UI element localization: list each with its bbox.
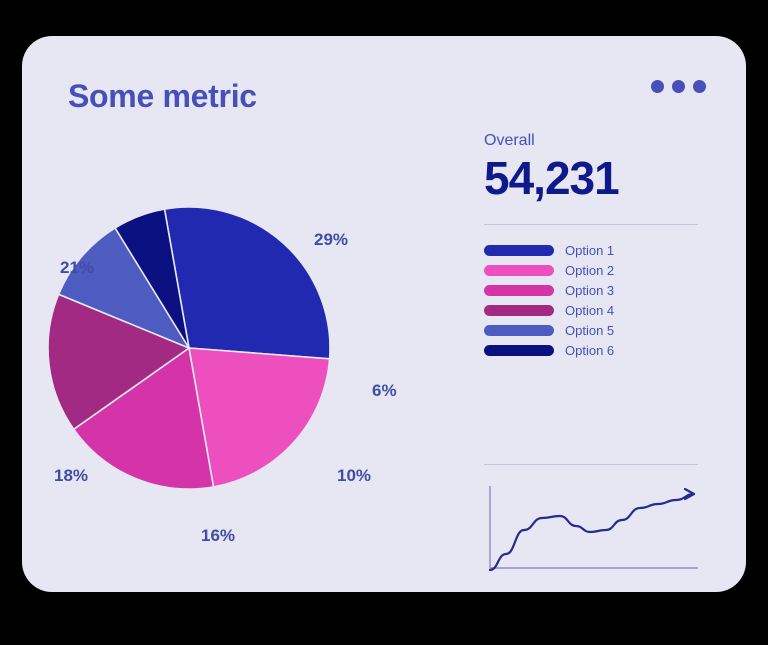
menu-dot	[672, 80, 685, 93]
sparkline-divider	[484, 464, 698, 465]
legend-label: Option 4	[565, 303, 614, 318]
chart-legend: Option 1Option 2Option 3Option 4Option 5…	[484, 243, 712, 358]
metric-card: Some metric 29% 21% 18% 16% 10% 6% Overa…	[22, 36, 746, 592]
legend-swatch-icon	[484, 285, 554, 296]
pie-label-option-5: 10%	[337, 466, 371, 486]
pie-label-option-6: 6%	[372, 381, 397, 401]
legend-swatch-icon	[484, 345, 554, 356]
pie-chart-svg	[42, 166, 462, 566]
panel-divider	[484, 224, 698, 225]
pie-label-option-3: 18%	[54, 466, 88, 486]
more-horizontal-icon[interactable]	[651, 80, 706, 93]
menu-dot	[651, 80, 664, 93]
legend-swatch-icon	[484, 305, 554, 316]
screenshot-stage: Some metric 29% 21% 18% 16% 10% 6% Overa…	[0, 0, 768, 645]
trend-sparkline	[484, 482, 706, 574]
menu-dot	[693, 80, 706, 93]
legend-label: Option 1	[565, 243, 614, 258]
pie-slice-option-1[interactable]	[165, 207, 330, 359]
legend-label: Option 2	[565, 263, 614, 278]
sparkline-axes	[490, 486, 698, 568]
page-title: Some metric	[68, 78, 257, 115]
legend-label: Option 6	[565, 343, 614, 358]
legend-label: Option 3	[565, 283, 614, 298]
pie-label-option-1: 29%	[314, 230, 348, 250]
pie-label-option-4: 16%	[201, 526, 235, 546]
legend-label: Option 5	[565, 323, 614, 338]
legend-swatch-icon	[484, 245, 554, 256]
summary-panel: Overall 54,231 Option 1Option 2Option 3O…	[484, 132, 712, 358]
legend-item-1[interactable]: Option 1	[484, 243, 712, 258]
sparkline-path	[490, 494, 694, 570]
overall-value: 54,231	[484, 154, 712, 202]
legend-item-5[interactable]: Option 5	[484, 323, 712, 338]
legend-item-2[interactable]: Option 2	[484, 263, 712, 278]
pie-label-option-2: 21%	[60, 258, 94, 278]
legend-swatch-icon	[484, 325, 554, 336]
legend-item-4[interactable]: Option 4	[484, 303, 712, 318]
overall-label: Overall	[484, 132, 712, 150]
legend-item-3[interactable]: Option 3	[484, 283, 712, 298]
pie-chart: 29% 21% 18% 16% 10% 6%	[42, 166, 462, 566]
legend-item-6[interactable]: Option 6	[484, 343, 712, 358]
legend-swatch-icon	[484, 265, 554, 276]
